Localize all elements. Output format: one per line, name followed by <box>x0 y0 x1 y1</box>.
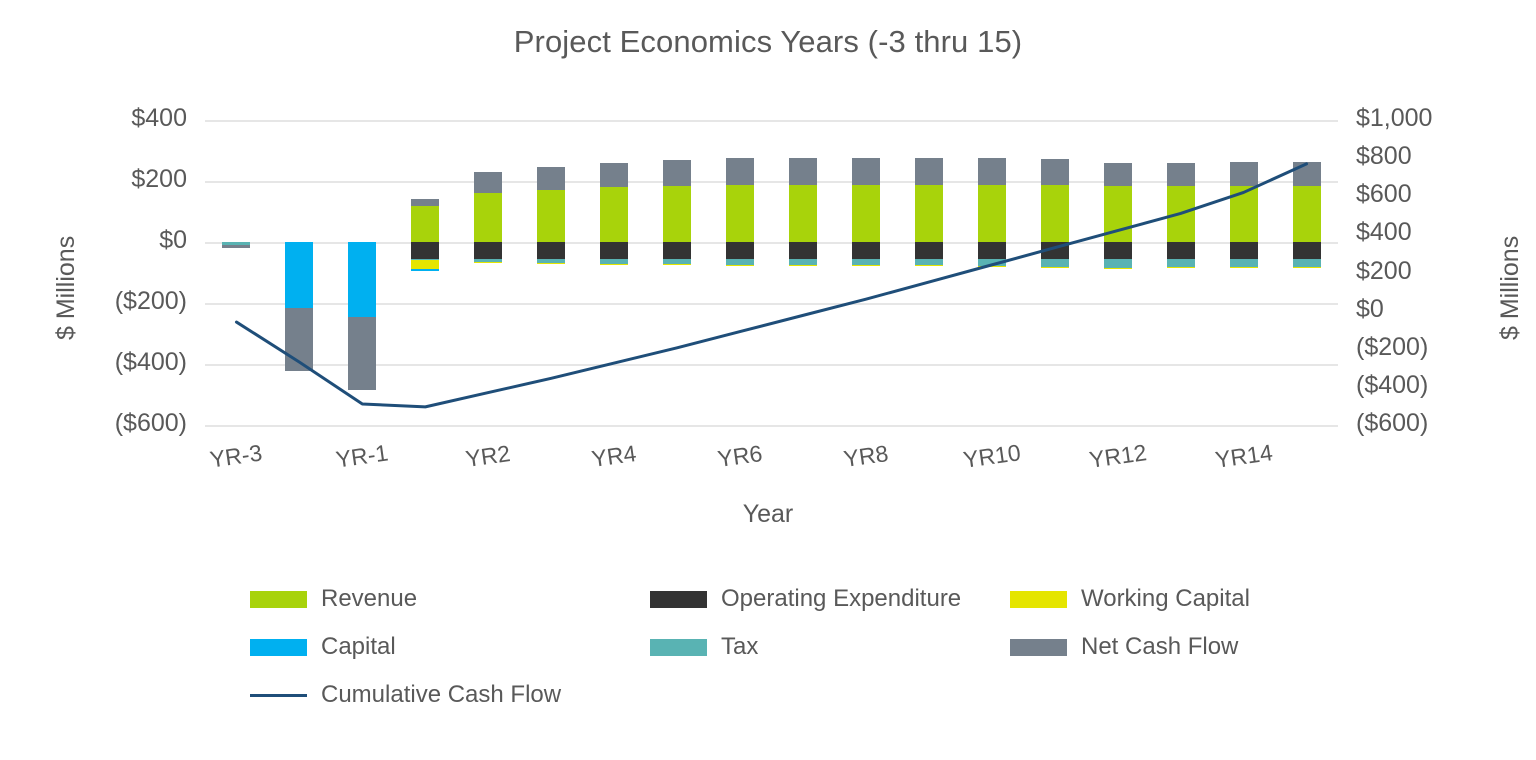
legend-item[interactable]: Revenue <box>250 585 417 613</box>
bar-segment[interactable] <box>411 269 439 271</box>
bar-segment[interactable] <box>1041 259 1069 268</box>
x-axis-tick: YR6 <box>694 437 787 476</box>
bar-segment[interactable] <box>978 266 1006 267</box>
y-axis-left-title: $ Millions <box>52 236 81 340</box>
bar-segment[interactable] <box>1167 259 1195 268</box>
legend-label: Revenue <box>321 585 417 613</box>
bar-segment[interactable] <box>474 172 502 193</box>
legend-item[interactable]: Net Cash Flow <box>1010 633 1238 661</box>
bar-column[interactable] <box>268 120 331 425</box>
x-axis-title: Year <box>0 500 1536 529</box>
bar-segment[interactable] <box>1230 162 1258 185</box>
bar-segment[interactable] <box>915 158 943 184</box>
chart-legend: RevenueOperating ExpenditureWorking Capi… <box>250 585 1300 729</box>
bar-segment[interactable] <box>1041 267 1069 268</box>
y-axis-right-tick: $400 <box>1356 218 1412 247</box>
bar-segment[interactable] <box>789 158 817 184</box>
legend-label: Cumulative Cash Flow <box>321 681 561 709</box>
y-axis-left-tick: ($400) <box>115 348 187 377</box>
legend-row: Cumulative Cash Flow <box>250 681 1300 729</box>
y-axis-right-title: $ Millions <box>1496 236 1525 340</box>
y-axis-right-tick: ($200) <box>1356 333 1428 362</box>
bar-column[interactable] <box>1212 120 1275 425</box>
bar-column[interactable] <box>834 120 897 425</box>
bar-segment[interactable] <box>537 190 565 242</box>
bar-segment[interactable] <box>1167 186 1195 242</box>
bar-segment[interactable] <box>1167 267 1195 268</box>
legend-swatch-icon <box>250 591 307 608</box>
x-axis-tick: YR14 <box>1197 437 1290 476</box>
bar-segment[interactable] <box>663 242 691 259</box>
y-axis-right-tick: ($600) <box>1356 409 1428 438</box>
bar-segment[interactable] <box>348 317 376 390</box>
bar-segment[interactable] <box>1104 268 1132 269</box>
bar-segment[interactable] <box>600 242 628 259</box>
x-axis-tick: YR4 <box>568 437 661 476</box>
bar-segment[interactable] <box>1104 163 1132 186</box>
bar-column[interactable] <box>1275 120 1338 425</box>
bar-segment[interactable] <box>663 186 691 242</box>
bar-column[interactable] <box>331 120 394 425</box>
bar-segment[interactable] <box>285 242 313 308</box>
bar-segment[interactable] <box>915 265 943 266</box>
bar-segment[interactable] <box>1167 242 1195 259</box>
gridline <box>205 425 1338 427</box>
legend-label: Capital <box>321 633 396 661</box>
bar-column[interactable] <box>394 120 457 425</box>
x-axis-tick: YR12 <box>1071 437 1164 476</box>
bar-segment[interactable] <box>978 242 1006 259</box>
legend-swatch-icon <box>650 639 707 656</box>
bar-segment[interactable] <box>1293 162 1321 185</box>
bar-segment[interactable] <box>411 242 439 259</box>
bar-segment[interactable] <box>600 264 628 265</box>
legend-item[interactable]: Capital <box>250 633 396 661</box>
legend-item[interactable]: Operating Expenditure <box>650 585 961 613</box>
legend-label: Working Capital <box>1081 585 1250 613</box>
bar-segment[interactable] <box>852 265 880 266</box>
x-axis-tick: YR10 <box>945 437 1038 476</box>
legend-row: CapitalTaxNet Cash Flow <box>250 633 1300 681</box>
bar-segment[interactable] <box>915 259 943 266</box>
y-axis-right-tick: $800 <box>1356 142 1412 171</box>
bar-segment[interactable] <box>726 242 754 259</box>
bar-segment[interactable] <box>726 185 754 242</box>
bar-segment[interactable] <box>852 242 880 259</box>
bar-segment[interactable] <box>978 259 1006 267</box>
bar-segment[interactable] <box>285 308 313 371</box>
legend-swatch-icon <box>1010 639 1067 656</box>
bar-segment[interactable] <box>600 187 628 242</box>
bar-segment[interactable] <box>978 158 1006 184</box>
bar-segment[interactable] <box>474 193 502 242</box>
y-axis-right-tick: ($400) <box>1356 371 1428 400</box>
bar-segment[interactable] <box>726 265 754 266</box>
bar-segment[interactable] <box>1167 163 1195 186</box>
bar-column[interactable] <box>960 120 1023 425</box>
legend-swatch-icon <box>1010 591 1067 608</box>
bar-segment[interactable] <box>474 262 502 263</box>
bar-column[interactable] <box>1086 120 1149 425</box>
bar-segment[interactable] <box>915 242 943 259</box>
bars-layer <box>205 120 1338 425</box>
bar-column[interactable] <box>897 120 960 425</box>
bar-segment[interactable] <box>1041 242 1069 259</box>
bar-segment[interactable] <box>1230 259 1258 268</box>
bar-segment[interactable] <box>1293 186 1321 242</box>
x-axis-tick: YR8 <box>819 437 912 476</box>
x-axis-tick: YR-3 <box>190 437 283 476</box>
bar-segment[interactable] <box>222 245 250 248</box>
chart-container: Project Economics Years (-3 thru 15) $40… <box>0 0 1536 760</box>
bar-segment[interactable] <box>726 158 754 184</box>
legend-line-icon <box>250 687 307 704</box>
bar-segment[interactable] <box>537 263 565 264</box>
bar-segment[interactable] <box>1293 267 1321 268</box>
y-axis-left-tick: $400 <box>131 104 187 133</box>
bar-segment[interactable] <box>1104 259 1132 268</box>
y-axis-left-tick: $200 <box>131 165 187 194</box>
legend-label: Tax <box>721 633 758 661</box>
bar-segment[interactable] <box>411 206 439 242</box>
bar-column[interactable] <box>205 120 268 425</box>
bar-segment[interactable] <box>1104 242 1132 259</box>
bar-segment[interactable] <box>1230 242 1258 259</box>
bar-segment[interactable] <box>1041 159 1069 185</box>
bar-column[interactable] <box>1149 120 1212 425</box>
y-axis-left-tick: $0 <box>159 226 187 255</box>
bar-segment[interactable] <box>978 185 1006 242</box>
bar-column[interactable] <box>520 120 583 425</box>
y-axis-left-tick: ($600) <box>115 409 187 438</box>
bar-segment[interactable] <box>915 185 943 242</box>
bar-segment[interactable] <box>1293 242 1321 259</box>
bar-segment[interactable] <box>852 185 880 242</box>
legend-row: RevenueOperating ExpenditureWorking Capi… <box>250 585 1300 633</box>
x-axis-tick: YR2 <box>442 437 535 476</box>
bar-segment[interactable] <box>663 264 691 265</box>
bar-segment[interactable] <box>411 199 439 206</box>
bar-segment[interactable] <box>789 242 817 259</box>
bar-segment[interactable] <box>411 260 439 269</box>
legend-item[interactable]: Cumulative Cash Flow <box>250 681 561 709</box>
bar-segment[interactable] <box>789 185 817 242</box>
bar-segment[interactable] <box>852 158 880 184</box>
bar-segment[interactable] <box>537 167 565 190</box>
bar-column[interactable] <box>772 120 835 425</box>
y-axis-right-tick: $200 <box>1356 257 1412 286</box>
bar-segment[interactable] <box>1293 259 1321 268</box>
bar-segment[interactable] <box>1104 186 1132 242</box>
bar-column[interactable] <box>583 120 646 425</box>
bar-column[interactable] <box>709 120 772 425</box>
x-axis-tick: YR-1 <box>316 437 409 476</box>
bar-segment[interactable] <box>852 259 880 266</box>
legend-item[interactable]: Tax <box>650 633 758 661</box>
chart-title: Project Economics Years (-3 thru 15) <box>0 24 1536 60</box>
bar-segment[interactable] <box>600 163 628 187</box>
bar-segment[interactable] <box>474 242 502 259</box>
legend-item[interactable]: Working Capital <box>1010 585 1250 613</box>
y-axis-left-tick: ($200) <box>115 287 187 316</box>
bar-segment[interactable] <box>1230 186 1258 242</box>
bar-column[interactable] <box>457 120 520 425</box>
legend-label: Operating Expenditure <box>721 585 961 613</box>
bar-segment[interactable] <box>663 160 691 186</box>
bar-segment[interactable] <box>1041 185 1069 242</box>
bar-column[interactable] <box>1023 120 1086 425</box>
y-axis-right-tick: $0 <box>1356 295 1384 324</box>
y-axis-right-tick: $1,000 <box>1356 104 1432 133</box>
plot-area <box>205 120 1338 425</box>
bar-segment[interactable] <box>1230 267 1258 268</box>
bar-segment[interactable] <box>537 242 565 259</box>
legend-label: Net Cash Flow <box>1081 633 1238 661</box>
legend-swatch-icon <box>650 591 707 608</box>
bar-segment[interactable] <box>789 265 817 266</box>
bar-segment[interactable] <box>348 242 376 317</box>
y-axis-right-tick: $600 <box>1356 180 1412 209</box>
bar-column[interactable] <box>646 120 709 425</box>
legend-swatch-icon <box>250 639 307 656</box>
